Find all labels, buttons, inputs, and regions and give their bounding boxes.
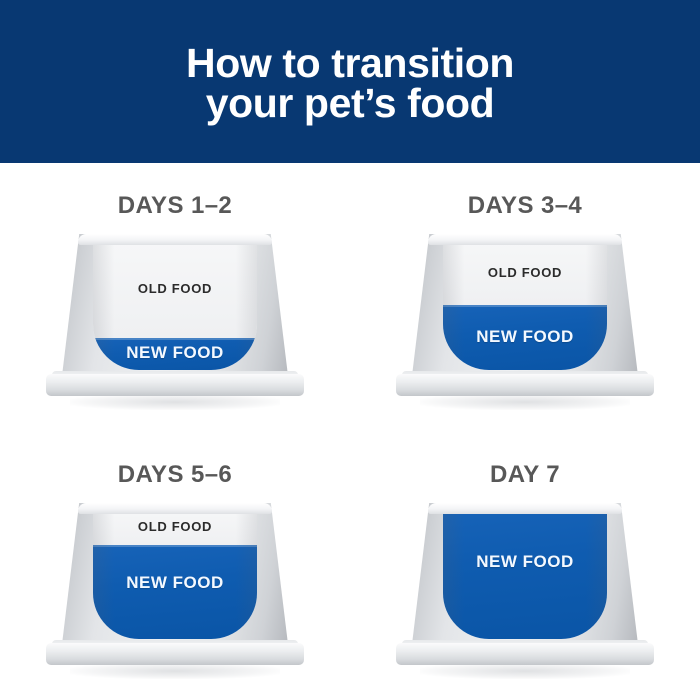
bowl-reflection: [420, 663, 630, 679]
new-food-label-3: NEW FOOD: [93, 573, 257, 593]
old-food-fill-2: OLD FOOD: [443, 240, 607, 305]
bowl-base: [46, 374, 304, 396]
bowl-reflection: [70, 663, 280, 679]
bowl-rim: [78, 234, 272, 245]
food-bowl-4: NEW FOOD: [396, 503, 654, 671]
old-food-label-2: OLD FOOD: [443, 265, 607, 280]
new-food-fill-2: NEW FOOD: [443, 305, 607, 370]
new-food-fill-3: NEW FOOD: [93, 545, 257, 639]
bowl-reflection: [70, 394, 280, 410]
bowl-rim: [78, 503, 272, 514]
step-heading-4: DAY 7: [490, 461, 560, 489]
transition-step-3: DAYS 5–6 OLD FOOD NEW FOOD: [0, 432, 350, 700]
new-food-label-1: NEW FOOD: [93, 343, 257, 363]
bowl-base: [46, 643, 304, 665]
bowl-cavity-1: OLD FOOD NEW FOOD: [93, 240, 257, 370]
new-food-label-2: NEW FOOD: [443, 327, 607, 347]
old-food-fill-1: OLD FOOD: [93, 240, 257, 338]
step-heading-1: DAYS 1–2: [118, 192, 232, 220]
bowl-base: [396, 374, 654, 396]
step-heading-3: DAYS 5–6: [118, 461, 232, 489]
transition-step-1: DAYS 1–2 OLD FOOD NEW FOOD: [0, 163, 350, 432]
bowl-cavity-3: OLD FOOD NEW FOOD: [93, 509, 257, 639]
food-bowl-2: OLD FOOD NEW FOOD: [396, 234, 654, 402]
food-bowl-3: OLD FOOD NEW FOOD: [46, 503, 304, 671]
header-banner: How to transition your pet’s food: [0, 0, 700, 163]
food-bowl-1: OLD FOOD NEW FOOD: [46, 234, 304, 402]
bowl-rim: [428, 503, 622, 514]
bowl-cavity-4: NEW FOOD: [443, 509, 607, 639]
new-food-label-4: NEW FOOD: [443, 552, 607, 572]
bowl-base: [396, 643, 654, 665]
bowl-rim: [428, 234, 622, 245]
transition-steps-grid: DAYS 1–2 OLD FOOD NEW FOOD DAYS 3–4: [0, 163, 700, 700]
bowl-cavity-2: OLD FOOD NEW FOOD: [443, 240, 607, 370]
transition-step-2: DAYS 3–4 OLD FOOD NEW FOOD: [350, 163, 700, 432]
bowl-reflection: [420, 394, 630, 410]
old-food-label-3: OLD FOOD: [93, 519, 257, 534]
transition-step-4: DAY 7 NEW FOOD: [350, 432, 700, 700]
page-title: How to transition your pet’s food: [186, 40, 514, 124]
old-food-label-1: OLD FOOD: [93, 281, 257, 296]
new-food-fill-4: NEW FOOD: [443, 509, 607, 639]
old-food-fill-3: OLD FOOD: [93, 509, 257, 545]
page-title-line-1: How to transition: [186, 40, 514, 86]
step-heading-2: DAYS 3–4: [468, 192, 582, 220]
page-title-line-2: your pet’s food: [186, 84, 514, 124]
new-food-fill-1: NEW FOOD: [93, 338, 257, 371]
